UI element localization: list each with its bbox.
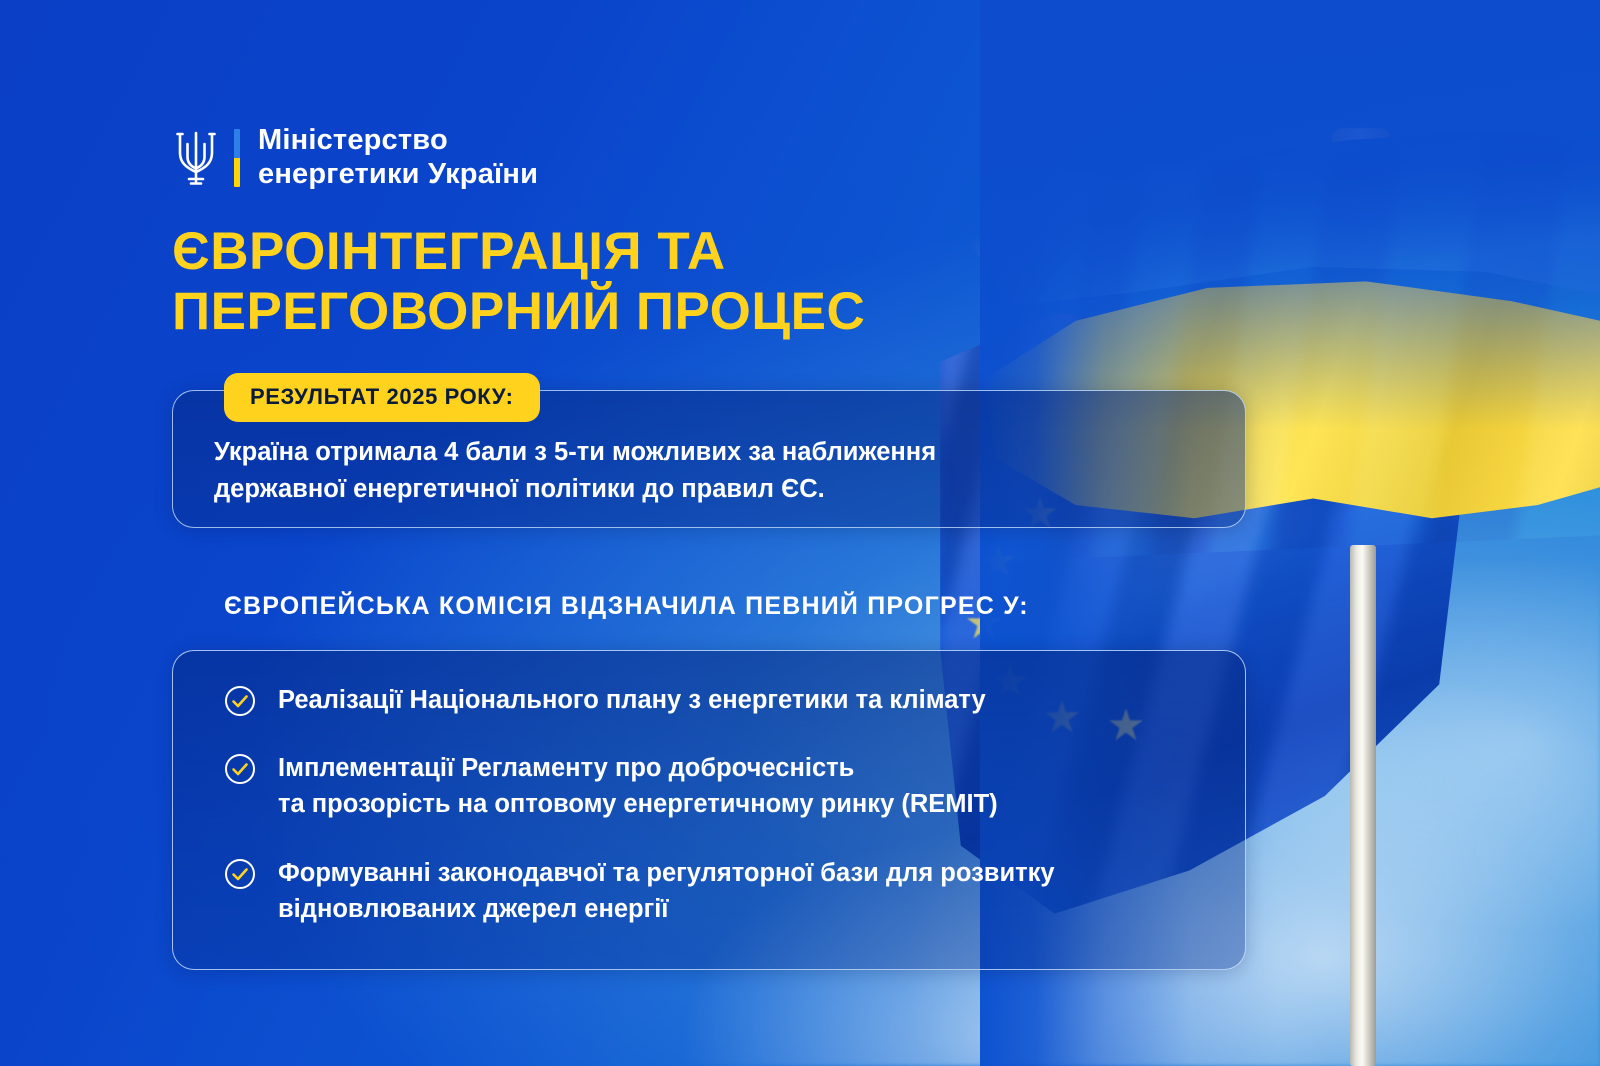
list-item: Імплементації Регламенту про доброчесніс… xyxy=(224,750,1214,822)
progress-list: Реалізації Національного плану з енергет… xyxy=(224,682,1214,927)
list-item: Реалізації Національного плану з енергет… xyxy=(224,682,1214,718)
list-item-label: Реалізації Національного плану з енергет… xyxy=(278,682,986,718)
check-circle-icon xyxy=(224,753,256,785)
progress-section-title: ЄВРОПЕЙСЬКА КОМІСІЯ ВІДЗНАЧИЛА ПЕВНИЙ ПР… xyxy=(224,592,1029,621)
ukraine-trident-icon xyxy=(172,127,220,189)
list-item-label: Імплементації Регламенту про доброчесніс… xyxy=(278,750,998,822)
result-badge: РЕЗУЛЬТАТ 2025 РОКУ: xyxy=(224,373,540,422)
list-item: Формуванні законодавчої та регуляторної … xyxy=(224,855,1214,927)
logo-divider-bar xyxy=(234,129,240,187)
list-item-label: Формуванні законодавчої та регуляторної … xyxy=(278,855,1055,927)
result-text: Україна отримала 4 бали з 5-ти можливих … xyxy=(214,434,1214,508)
ministry-logo: Міністерство енергетики України xyxy=(172,124,538,191)
ministry-name: Міністерство енергетики України xyxy=(258,124,538,191)
infographic-content: Міністерство енергетики України ЄВРОІНТЕ… xyxy=(0,0,1600,1066)
page-title: ЄВРОІНТЕГРАЦІЯ ТА ПЕРЕГОВОРНИЙ ПРОЦЕС xyxy=(172,222,1162,342)
check-circle-icon xyxy=(224,858,256,890)
check-circle-icon xyxy=(224,685,256,717)
